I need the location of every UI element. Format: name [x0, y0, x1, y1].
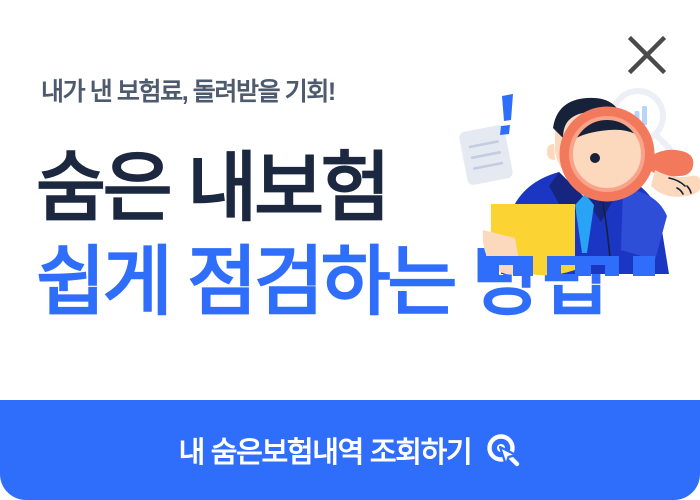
- cta-label: 내 숨은보험내역 조회하기: [179, 429, 472, 471]
- headline-line-1: 숨은 내보험: [36, 151, 388, 227]
- close-button[interactable]: [620, 28, 674, 82]
- promo-banner: 내가 낸 보험료, 돌려받을 기회! 숨은 내보험 쉽게 점검하는 방법: [0, 0, 700, 500]
- search-cursor-icon: [485, 432, 521, 468]
- insurance-illustration: [455, 78, 700, 283]
- cta-button[interactable]: 내 숨은보험내역 조회하기: [0, 400, 700, 500]
- hand-holding-magnifier: [649, 150, 700, 197]
- banner-subtitle: 내가 낸 보험료, 돌려받을 기회!: [41, 72, 335, 108]
- close-icon: [626, 34, 668, 76]
- exclamation-mark-icon: [500, 94, 513, 135]
